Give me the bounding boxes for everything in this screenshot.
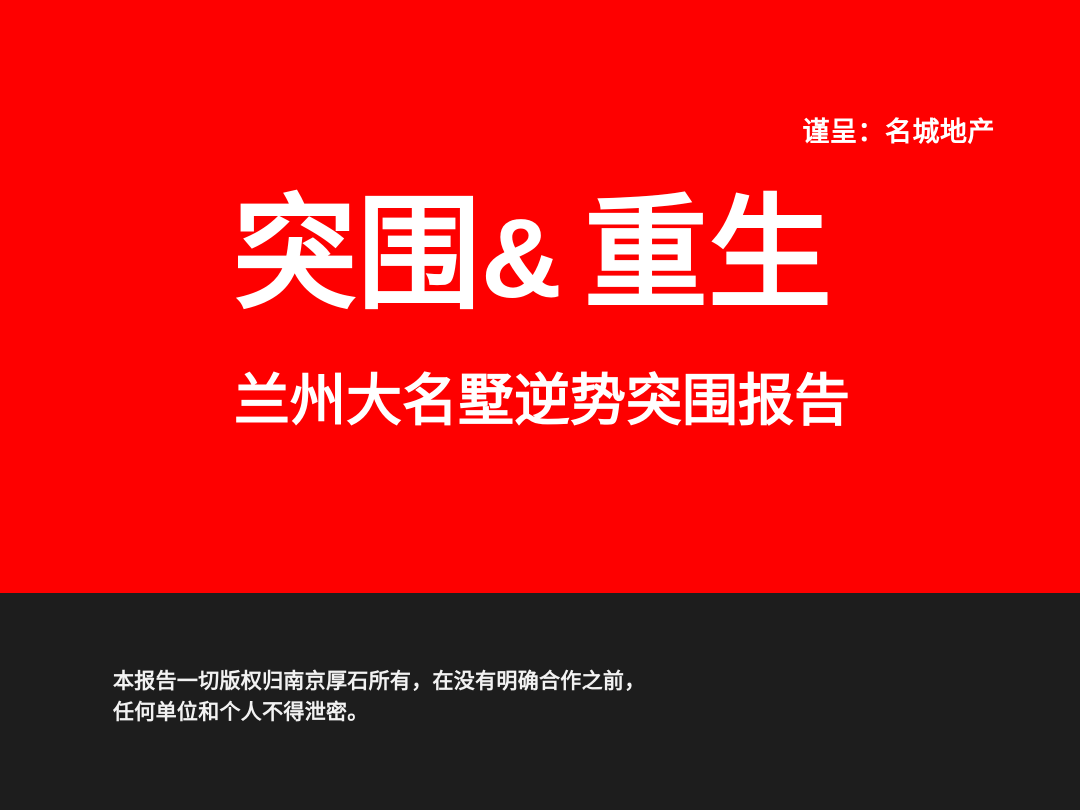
slide-title-part-two: 重生 — [584, 186, 832, 324]
presented-to-label: 谨呈：名城地产 — [803, 119, 996, 146]
slide-title-ampersand: & — [481, 196, 562, 321]
slide-subtitle: 兰州大名墅逆势突围报告 — [234, 370, 850, 433]
slide-title: 突围&重生 — [233, 190, 832, 320]
footer-panel: 本报告一切版权归南京厚石所有，在没有明确合作之前， 任何单位和个人不得泄密。 — [0, 593, 1080, 810]
copyright-disclaimer-line-1: 本报告一切版权归南京厚石所有，在没有明确合作之前， — [113, 666, 646, 697]
copyright-disclaimer: 本报告一切版权归南京厚石所有，在没有明确合作之前， 任何单位和个人不得泄密。 — [113, 666, 646, 728]
hero-panel: 谨呈：名城地产 突围&重生 兰州大名墅逆势突围报告 — [0, 0, 1080, 593]
copyright-disclaimer-line-2: 任何单位和个人不得泄密。 — [113, 697, 646, 728]
title-slide: 谨呈：名城地产 突围&重生 兰州大名墅逆势突围报告 本报告一切版权归南京厚石所有… — [0, 0, 1080, 810]
slide-title-part-one: 突围 — [233, 186, 481, 324]
